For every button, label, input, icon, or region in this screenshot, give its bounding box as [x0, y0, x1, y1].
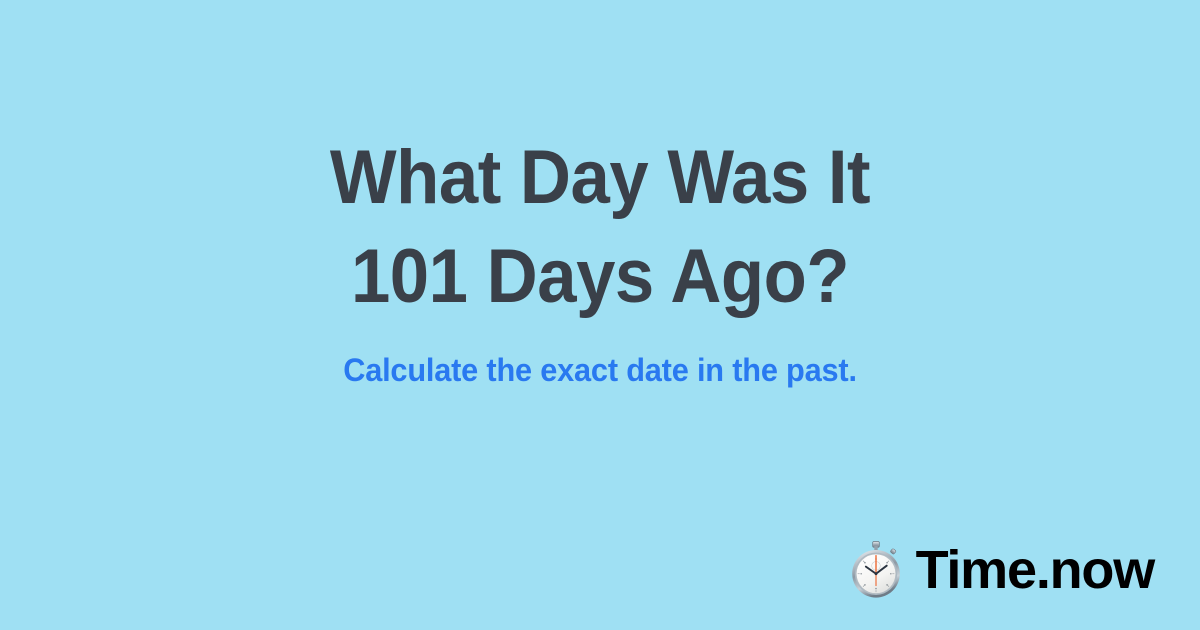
stopwatch-icon — [846, 540, 906, 600]
brand-name: Time.now — [916, 540, 1154, 600]
page-title-line-2: 101 Days Ago? — [42, 227, 1158, 326]
page-title: What Day Was It 101 Days Ago? — [0, 128, 1200, 326]
brand-lockup[interactable]: Time.now — [846, 540, 1154, 600]
page-subtitle: Calculate the exact date in the past. — [24, 349, 1176, 391]
social-share-card: What Day Was It 101 Days Ago? Calculate … — [0, 0, 1200, 630]
page-title-line-1: What Day Was It — [42, 128, 1158, 227]
